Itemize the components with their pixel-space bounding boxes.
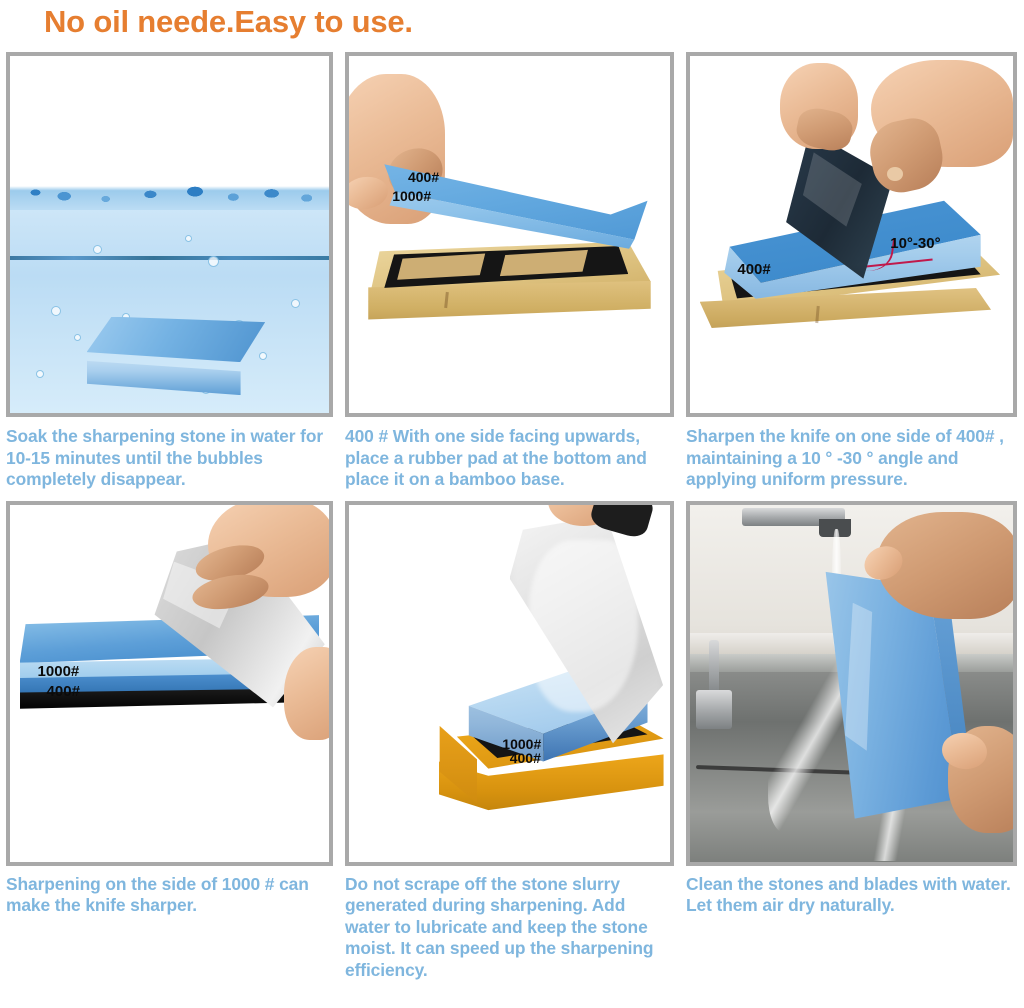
step-1-caption: Soak the sharpening stone in water for 1… bbox=[6, 426, 333, 491]
stone-label-1000: 1000# bbox=[502, 736, 541, 752]
page-title: No oil neede.Easy to use. bbox=[44, 2, 413, 42]
step-4-photo: 1000# 400# bbox=[6, 501, 333, 866]
water-surface-foam bbox=[10, 164, 329, 210]
sharpen-400-scene: 400# 10°-30° bbox=[690, 56, 1013, 413]
stone-label-400: 400# bbox=[47, 683, 80, 700]
whetstone-tilted: 400# 1000# bbox=[384, 135, 647, 249]
hand-grip bbox=[284, 647, 333, 740]
slurry-film bbox=[529, 540, 638, 711]
water-line bbox=[10, 256, 329, 260]
step-3-caption: Sharpen the knife on one side of 400# , … bbox=[686, 426, 1017, 491]
bubble bbox=[36, 370, 44, 378]
step-card-2: 400# 1000# 400 # With one side facing up… bbox=[341, 52, 682, 491]
step-1-photo bbox=[6, 52, 333, 417]
step-5-photo: 1000# 400# bbox=[345, 501, 674, 866]
step-card-4: 1000# 400# Sharpening on the side of 10 bbox=[0, 501, 341, 982]
stone-label-400: 400# bbox=[737, 261, 770, 278]
mount-stone-scene: 400# 1000# bbox=[349, 56, 670, 413]
bubble bbox=[291, 299, 300, 308]
step-5-caption: Do not scrape off the stone slurry gener… bbox=[345, 874, 674, 982]
infographic-page: No oil neede.Easy to use. bbox=[0, 0, 1024, 1008]
slurry-scene: 1000# 400# bbox=[349, 505, 670, 862]
soap-dispenser bbox=[709, 640, 719, 697]
rinse-scene bbox=[690, 505, 1013, 862]
soap-dispenser-base bbox=[696, 690, 732, 729]
step-4-caption: Sharpening on the side of 1000 # can mak… bbox=[6, 874, 333, 917]
step-card-5: 1000# 400# Do not scrape off the stone s… bbox=[341, 501, 682, 982]
step-6-photo bbox=[686, 501, 1017, 866]
sharpen-1000-scene: 1000# 400# bbox=[10, 505, 329, 862]
step-3-photo: 400# 10°-30° bbox=[686, 52, 1017, 417]
stone-top-face bbox=[87, 317, 266, 363]
step-card-3: 400# 10°-30° bbox=[682, 52, 1023, 491]
steps-grid: Soak the sharpening stone in water for 1… bbox=[0, 52, 1024, 981]
stone-label-400: 400# bbox=[510, 750, 541, 766]
angle-label: 10°-30° bbox=[890, 235, 940, 252]
fingernail bbox=[887, 167, 903, 181]
droplet bbox=[185, 235, 192, 242]
step-2-caption: 400 # With one side facing upwards, plac… bbox=[345, 426, 674, 491]
step-card-1: Soak the sharpening stone in water for 1… bbox=[0, 52, 341, 491]
steps-row-2: 1000# 400# Sharpening on the side of 10 bbox=[0, 501, 1024, 982]
step-6-caption: Clean the stones and blades with water. … bbox=[686, 874, 1017, 917]
steps-row-1: Soak the sharpening stone in water for 1… bbox=[0, 52, 1024, 491]
bamboo-base-front bbox=[368, 281, 650, 335]
stone-label-400: 400# bbox=[408, 169, 439, 185]
step-2-photo: 400# 1000# bbox=[345, 52, 674, 417]
stone-label-1000: 1000# bbox=[38, 663, 80, 680]
water-soak-scene bbox=[10, 56, 329, 413]
stone-label-1000: 1000# bbox=[392, 188, 431, 204]
droplet bbox=[208, 256, 219, 267]
whetstone-submerged bbox=[87, 317, 266, 396]
step-card-6: Clean the stones and blades with water. … bbox=[682, 501, 1023, 982]
